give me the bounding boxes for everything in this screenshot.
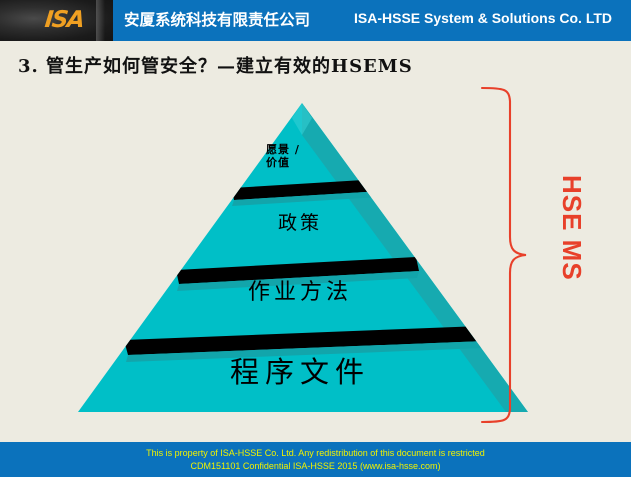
header-banner: ISA 安厦系统科技有限责任公司 ISA-HSSE System & Solut… [0,0,631,41]
hsems-brace-icon [470,85,540,425]
slide-title: 3. 管生产如何管安全？—建立有效的HSEMS [18,52,413,78]
footer-reference-line: CDM151101 Confidential ISA-HSSE 2015 (ww… [0,460,631,473]
slide-canvas: ISA 安厦系统科技有限责任公司 ISA-HSSE System & Solut… [0,0,631,477]
company-name-cn: 安厦系统科技有限责任公司 [124,8,310,30]
logo-panel: ISA [0,0,113,41]
pyramid-body [78,103,528,412]
footer-bar: This is property of ISA-HSSE Co. Ltd. An… [0,442,631,477]
footer-copyright-line: This is property of ISA-HSSE Co. Ltd. An… [0,447,631,460]
isa-logo: ISA [23,8,106,33]
company-name-en: ISA-HSSE System & Solutions Co. LTD [354,10,612,26]
hsems-label: HSE MS [545,175,585,281]
